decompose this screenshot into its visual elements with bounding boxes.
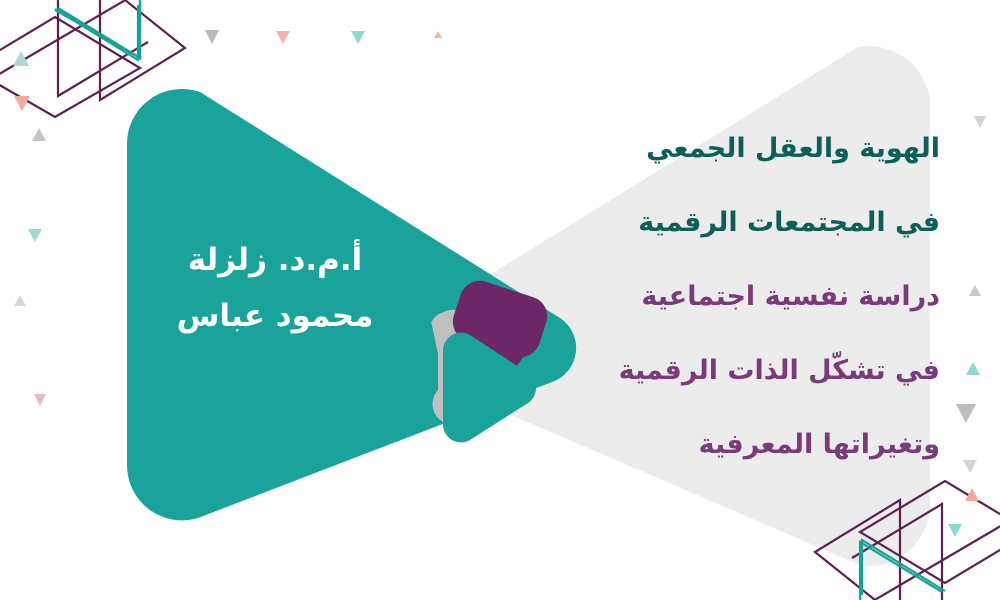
title-line-4: في تشكّل الذات الرقمية bbox=[520, 334, 940, 408]
title-block: الهوية والعقل الجمعي في المجتمعات الرقمي… bbox=[520, 112, 940, 482]
book-cover: الهوية والعقل الجمعي في المجتمعات الرقمي… bbox=[0, 0, 1000, 600]
author-block: أ.م.د. زلزلة محمود عباس bbox=[140, 232, 410, 344]
title-line-5: وتغيراتها المعرفية bbox=[520, 408, 940, 482]
title-line-2: في المجتمعات الرقمية bbox=[520, 186, 940, 260]
title-line-3: دراسة نفسية اجتماعية bbox=[520, 260, 940, 334]
title-line-1: الهوية والعقل الجمعي bbox=[520, 112, 940, 186]
author-line-1: أ.م.د. زلزلة bbox=[140, 232, 410, 288]
author-line-2: محمود عباس bbox=[140, 288, 410, 344]
